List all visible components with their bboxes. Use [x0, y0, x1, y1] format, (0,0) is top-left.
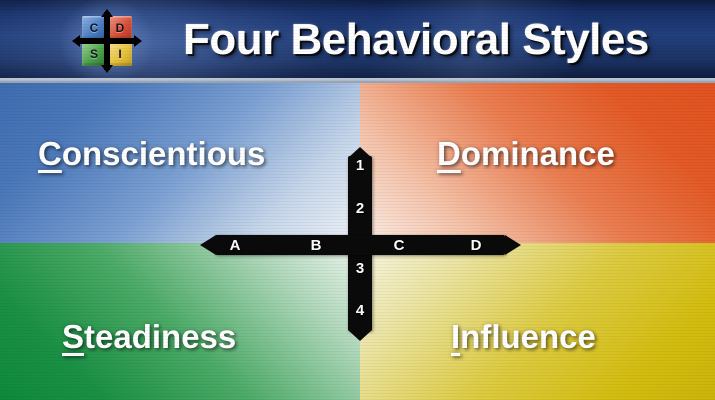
logo-cell-d: D	[108, 16, 132, 40]
horizontal-tick-c: C	[390, 237, 408, 254]
quadrant-rest-i: nfluence	[460, 318, 596, 355]
horizontal-axis-bar	[215, 235, 505, 255]
axis-arrow-down-icon	[348, 330, 372, 341]
logo-cross-horizontal-icon	[76, 38, 138, 44]
disc-quadrant-logo: C D S I	[76, 12, 138, 70]
vertical-tick-4: 4	[348, 302, 372, 319]
vertical-tick-2: 2	[348, 200, 372, 217]
logo-arrow-up-icon	[101, 9, 113, 17]
quadrant-label-dominance: Dominance	[437, 135, 615, 173]
logo-cell-s: S	[82, 42, 106, 66]
horizontal-tick-d: D	[467, 237, 485, 254]
logo-arrow-left-icon	[72, 35, 80, 47]
logo-cell-i: I	[108, 42, 132, 66]
axis-arrow-right-icon	[505, 235, 521, 255]
horizontal-tick-b: B	[307, 237, 325, 254]
quadrant-initial-s: S	[62, 318, 84, 355]
page-title: Four Behavioral Styles	[183, 14, 703, 66]
vertical-tick-3: 3	[348, 260, 372, 277]
logo-arrow-right-icon	[134, 35, 142, 47]
quadrant-initial-c: C	[38, 135, 62, 172]
quadrant-label-steadiness: Steadiness	[62, 318, 236, 356]
logo-arrow-down-icon	[101, 65, 113, 73]
slide-canvas: C D S I Four Behavioral Styles Conscient…	[0, 0, 715, 400]
axis-arrow-left-icon	[200, 235, 216, 255]
quadrant-rest-d: ominance	[461, 135, 615, 172]
title-bar: C D S I Four Behavioral Styles	[0, 0, 715, 78]
horizontal-tick-a: A	[226, 237, 244, 254]
quadrant-board: Conscientious Dominance Steadiness Influ…	[0, 83, 715, 400]
quadrant-initial-i: I	[451, 318, 460, 355]
quadrant-label-conscientious: Conscientious	[38, 135, 265, 173]
quadrant-rest-s: teadiness	[84, 318, 236, 355]
quadrant-initial-d: D	[437, 135, 461, 172]
quadrant-label-influence: Influence	[451, 318, 596, 356]
logo-cell-c: C	[82, 16, 106, 40]
quadrant-rest-c: onscientious	[62, 135, 266, 172]
vertical-tick-1: 1	[348, 157, 372, 174]
